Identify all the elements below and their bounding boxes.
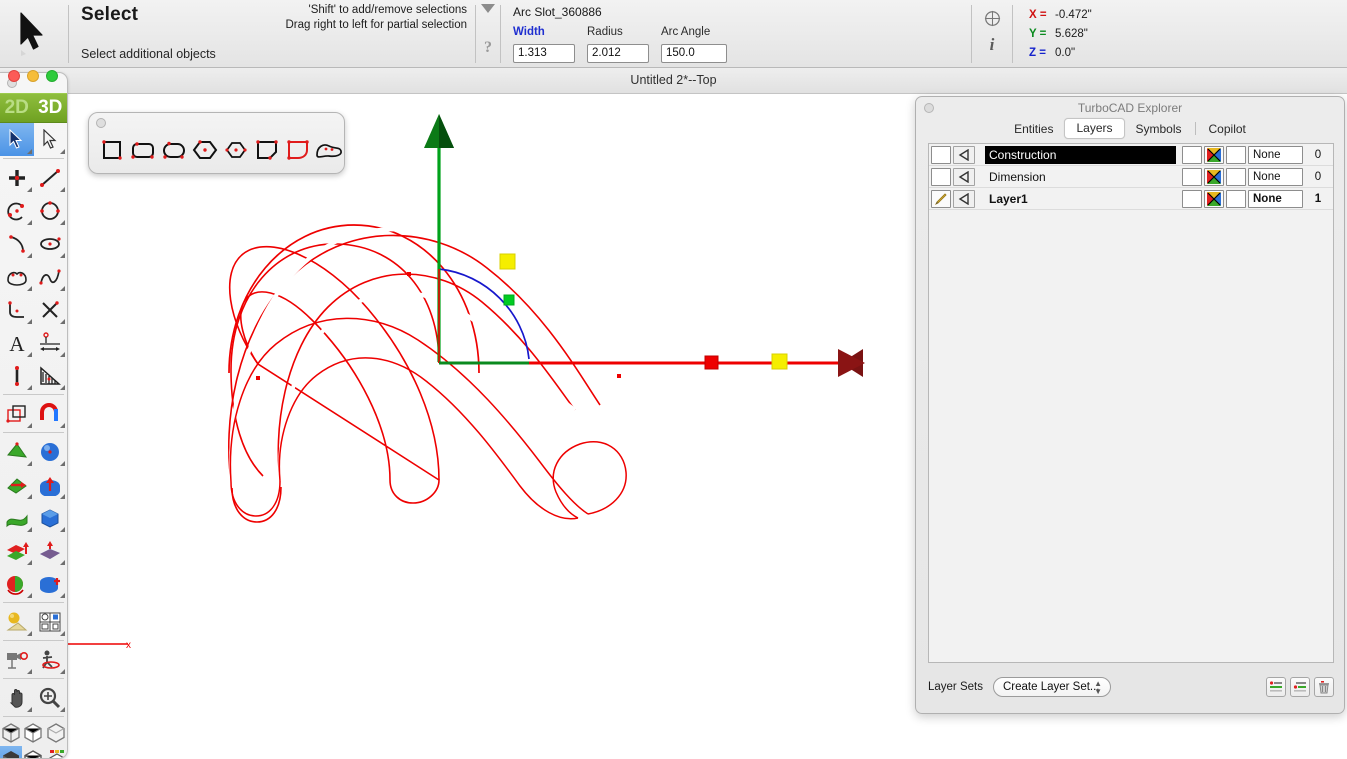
layer-print-checkbox[interactable] bbox=[1226, 190, 1246, 208]
walkthrough-tool[interactable] bbox=[34, 643, 68, 676]
divider bbox=[3, 158, 64, 159]
object-properties-section: Arc Slot_360886 Width Radius Arc Angle bbox=[501, 0, 971, 67]
render-view[interactable] bbox=[44, 746, 68, 759]
coord-x-key: X = bbox=[1029, 6, 1055, 25]
tool-more-icon[interactable] bbox=[60, 253, 65, 258]
bezier-tool[interactable] bbox=[34, 260, 68, 293]
info-italic-icon[interactable]: i bbox=[990, 35, 995, 55]
box-view[interactable] bbox=[22, 746, 44, 759]
shape-palette-grip[interactable] bbox=[96, 118, 106, 128]
wireframe-view[interactable] bbox=[0, 719, 22, 746]
scale-handle-y bbox=[500, 254, 515, 269]
center-marker bbox=[256, 376, 260, 380]
tool-more-icon[interactable] bbox=[60, 593, 65, 598]
add-layer-set-button[interactable] bbox=[1266, 677, 1286, 697]
layer-active-pencil-icon[interactable] bbox=[931, 190, 951, 208]
select-partial-arrow-tool[interactable] bbox=[34, 123, 68, 156]
layer-style[interactable]: None bbox=[1248, 190, 1303, 208]
layer-lock-checkbox[interactable] bbox=[1182, 190, 1202, 208]
layer-style[interactable]: None bbox=[1248, 146, 1303, 164]
width-input[interactable] bbox=[513, 44, 575, 63]
radius-label: Radius bbox=[587, 26, 649, 40]
tool-more-icon[interactable] bbox=[27, 385, 32, 390]
hidden-line-view[interactable] bbox=[22, 719, 44, 746]
tool-prompt: Select additional objects bbox=[81, 47, 216, 61]
dimension-tool[interactable] bbox=[34, 326, 68, 359]
measure-tool[interactable] bbox=[0, 359, 34, 392]
window-controls bbox=[8, 70, 58, 82]
tool-more-icon[interactable] bbox=[27, 560, 32, 565]
coordinate-readout: X = -0.472" Y = 5.628" Z = 0.0" bbox=[1013, 0, 1347, 67]
coord-y-value: 5.628" bbox=[1055, 25, 1088, 44]
extrude-tool[interactable] bbox=[0, 468, 34, 501]
hatch-tool[interactable] bbox=[34, 359, 68, 392]
tool-more-icon[interactable] bbox=[27, 319, 32, 324]
layer-print-checkbox[interactable] bbox=[1226, 146, 1246, 164]
tool-more-icon[interactable] bbox=[27, 669, 32, 674]
width-label: Width bbox=[513, 26, 575, 40]
minimize-button[interactable] bbox=[27, 70, 39, 82]
layer-name[interactable]: Layer1 bbox=[985, 190, 1180, 208]
arc-angle-label: Arc Angle bbox=[661, 26, 727, 40]
arc-slot-tool[interactable] bbox=[313, 133, 344, 167]
layer-active-checkbox[interactable] bbox=[931, 146, 951, 164]
ellipse-tool[interactable] bbox=[34, 227, 68, 260]
arc-angle-field-group: Arc Angle bbox=[661, 26, 727, 63]
select-arrow-tool[interactable] bbox=[0, 123, 34, 156]
tab-layers[interactable]: Layers bbox=[1064, 118, 1124, 139]
coordinate-mode-group: i bbox=[972, 0, 1012, 67]
move-handle-y bbox=[504, 295, 514, 305]
text-tool[interactable]: A bbox=[0, 326, 34, 359]
triangle-down-icon[interactable] bbox=[481, 4, 495, 13]
divider bbox=[3, 394, 64, 395]
mode-2d-button[interactable]: 2D bbox=[0, 94, 34, 122]
object-name-label: Arc Slot_360886 bbox=[513, 5, 971, 19]
tool-more-icon[interactable] bbox=[60, 494, 65, 499]
rounded-rectangle-tool[interactable] bbox=[127, 133, 158, 167]
tab-copilot[interactable]: Copilot bbox=[1198, 120, 1257, 139]
tool-more-icon[interactable] bbox=[27, 631, 32, 636]
revolve-tool[interactable] bbox=[34, 468, 68, 501]
tool-more-icon[interactable] bbox=[27, 149, 32, 154]
edit-layer-set-button[interactable] bbox=[1290, 677, 1310, 697]
divider bbox=[3, 640, 64, 641]
slice-tool[interactable] bbox=[34, 567, 68, 600]
document-title: Untitled 2*--Top bbox=[0, 73, 1347, 87]
stadium-tool[interactable] bbox=[158, 133, 189, 167]
coord-y-key: Y = bbox=[1029, 25, 1055, 44]
arrow-cursor-icon bbox=[0, 0, 68, 67]
modify-tool[interactable] bbox=[0, 397, 34, 430]
tool-more-icon[interactable] bbox=[60, 527, 65, 532]
box-tool[interactable] bbox=[34, 501, 68, 534]
layer-entity-count: 0 bbox=[1303, 146, 1333, 164]
layer-name[interactable]: Construction bbox=[985, 146, 1176, 164]
tool-hint-line2: Drag right to left for partial selection bbox=[285, 18, 467, 33]
tool-more-icon[interactable] bbox=[27, 220, 32, 225]
point-tool[interactable] bbox=[0, 161, 34, 194]
hexagon-tool[interactable] bbox=[189, 133, 220, 167]
tool-hint-line1: 'Shift' to add/remove selections bbox=[285, 3, 467, 18]
tool-more-icon[interactable] bbox=[27, 352, 32, 357]
divider bbox=[3, 432, 64, 433]
tool-more-icon[interactable] bbox=[60, 560, 65, 565]
coordinate-row-y: Y = 5.628" bbox=[1029, 25, 1347, 44]
turbocad-explorer-panel: TurboCAD Explorer Entities Layers Symbol… bbox=[915, 96, 1345, 714]
table-row[interactable]: Layer1 None 1 bbox=[929, 188, 1333, 210]
tool-more-icon[interactable] bbox=[27, 187, 32, 192]
explorer-title: TurboCAD Explorer bbox=[916, 97, 1344, 117]
shaded-view[interactable] bbox=[45, 719, 67, 746]
tool-more-icon[interactable] bbox=[60, 423, 65, 428]
layer-active-checkbox[interactable] bbox=[931, 168, 951, 186]
divider bbox=[3, 602, 64, 603]
tool-more-icon[interactable] bbox=[27, 461, 32, 466]
tool-more-icon[interactable] bbox=[60, 286, 65, 291]
chamfered-rectangle-tool[interactable] bbox=[251, 133, 282, 167]
tool-more-icon[interactable] bbox=[60, 631, 65, 636]
layer-lock-checkbox[interactable] bbox=[1182, 168, 1202, 186]
line-tool[interactable] bbox=[34, 161, 68, 194]
arc-angle-input[interactable] bbox=[661, 44, 727, 63]
polygon-tool[interactable] bbox=[220, 133, 251, 167]
layers-list[interactable]: Construction None 0 Dimension None 0 bbox=[928, 143, 1334, 663]
coord-z-key: Z = bbox=[1029, 44, 1055, 63]
explorer-grip[interactable] bbox=[924, 103, 934, 113]
arc-slot-shape bbox=[231, 229, 610, 488]
arc-tool[interactable] bbox=[0, 194, 34, 227]
rotate-handle-x bbox=[705, 356, 718, 369]
explorer-footer: Layer Sets Create Layer Set... ▲▼ bbox=[928, 675, 1334, 699]
tool-info-section: Select 'Shift' to add/remove selections … bbox=[69, 0, 475, 67]
layer-visibility-icon[interactable] bbox=[953, 190, 975, 208]
tool-more-icon[interactable] bbox=[60, 187, 65, 192]
layer-color-swatch[interactable] bbox=[1204, 168, 1224, 186]
coordinate-row-z: Z = 0.0" bbox=[1029, 44, 1347, 63]
width-field-group: Width bbox=[513, 26, 575, 63]
tool-more-icon[interactable] bbox=[27, 253, 32, 258]
tab-divider bbox=[1195, 122, 1196, 135]
tool-more-icon[interactable] bbox=[60, 669, 65, 674]
surface-tool[interactable] bbox=[0, 501, 34, 534]
pan-tool[interactable] bbox=[0, 681, 34, 714]
tool-more-icon[interactable] bbox=[60, 352, 65, 357]
shape-tool-palette bbox=[88, 112, 345, 174]
document-title-bar: Untitled 2*--Top bbox=[0, 68, 1347, 94]
layer-color-swatch[interactable] bbox=[1204, 190, 1224, 208]
tool-more-icon[interactable] bbox=[60, 385, 65, 390]
mesh-tool[interactable] bbox=[0, 435, 34, 468]
delete-layer-set-button[interactable] bbox=[1314, 677, 1334, 697]
rectangle-tool[interactable] bbox=[96, 133, 127, 167]
curve-tool[interactable] bbox=[0, 227, 34, 260]
render-material-tool[interactable] bbox=[0, 605, 34, 638]
layer-sets-label: Layer Sets bbox=[928, 681, 983, 693]
zoom-tool[interactable] bbox=[34, 681, 68, 714]
layer-name[interactable]: Dimension bbox=[985, 168, 1180, 186]
tool-more-icon[interactable] bbox=[27, 286, 32, 291]
layer-color-swatch[interactable] bbox=[1204, 146, 1224, 164]
tool-more-icon[interactable] bbox=[27, 527, 32, 532]
fillet-corner-tool[interactable] bbox=[0, 293, 34, 326]
tool-more-icon[interactable] bbox=[60, 220, 65, 225]
layer-entity-count: 1 bbox=[1303, 190, 1333, 208]
tool-more-icon[interactable] bbox=[27, 423, 32, 428]
magnet-snap-tool[interactable] bbox=[34, 397, 68, 430]
scale-handle-x bbox=[772, 354, 787, 369]
explorer-tabs: Entities Layers Symbols Copilot bbox=[916, 117, 1344, 139]
circle-tool[interactable] bbox=[34, 194, 68, 227]
reference-line: x bbox=[68, 640, 131, 651]
table-row[interactable]: Construction None 0 bbox=[929, 144, 1333, 166]
reference-marker-label: x bbox=[126, 640, 131, 651]
sphere-tool[interactable] bbox=[34, 435, 68, 468]
tool-hint: 'Shift' to add/remove selections Drag ri… bbox=[285, 3, 467, 33]
crosshair-target-icon[interactable] bbox=[984, 10, 1001, 27]
spline-shape-tool[interactable] bbox=[0, 260, 34, 293]
center-marker bbox=[407, 272, 411, 276]
coord-x-value: -0.472" bbox=[1055, 6, 1092, 25]
property-toolbar: Select 'Shift' to add/remove selections … bbox=[0, 0, 1347, 68]
camera-tool[interactable] bbox=[0, 643, 34, 676]
tool-more-icon[interactable] bbox=[60, 461, 65, 466]
coord-z-value: 0.0" bbox=[1055, 44, 1075, 63]
divider bbox=[3, 678, 64, 679]
radius-input[interactable] bbox=[587, 44, 649, 63]
tool-more-icon[interactable] bbox=[60, 319, 65, 324]
trim-cross-tool[interactable] bbox=[34, 293, 68, 326]
question-mark-icon[interactable]: ? bbox=[484, 39, 492, 57]
tool-more-icon[interactable] bbox=[60, 707, 65, 712]
radius-field-group: Radius bbox=[587, 26, 649, 63]
layer-print-checkbox[interactable] bbox=[1226, 168, 1246, 186]
tool-more-icon[interactable] bbox=[27, 707, 32, 712]
tab-symbols[interactable]: Symbols bbox=[1125, 120, 1193, 139]
tab-entities[interactable]: Entities bbox=[1003, 120, 1064, 139]
layer-sets-dropdown[interactable]: Create Layer Set... ▲▼ bbox=[993, 677, 1111, 697]
close-button[interactable] bbox=[8, 70, 20, 82]
tool-palette: 2D 3D bbox=[0, 72, 68, 759]
chevron-updown-icon: ▲▼ bbox=[1094, 680, 1102, 696]
layer-entity-count: 0 bbox=[1303, 168, 1333, 186]
layout-tool[interactable] bbox=[34, 605, 68, 638]
layer-visibility-icon[interactable] bbox=[953, 146, 975, 164]
tool-more-icon[interactable] bbox=[27, 593, 32, 598]
divider bbox=[3, 716, 64, 717]
loft-tool[interactable] bbox=[0, 534, 34, 567]
coordinate-row-x: X = -0.472" bbox=[1029, 6, 1347, 25]
solid-view[interactable] bbox=[0, 746, 22, 759]
tool-more-icon[interactable] bbox=[60, 149, 65, 154]
boolean-tool[interactable] bbox=[0, 567, 34, 600]
center-marker bbox=[617, 374, 621, 378]
toolbar-expand-group: ? bbox=[476, 0, 500, 67]
layer-sets-value: Create Layer Set... bbox=[1003, 681, 1100, 693]
table-row[interactable]: Dimension None 0 bbox=[929, 166, 1333, 188]
mode-3d-button[interactable]: 3D bbox=[34, 94, 68, 122]
layer-lock-checkbox[interactable] bbox=[1182, 146, 1202, 164]
layer-visibility-icon[interactable] bbox=[953, 168, 975, 186]
layer-style[interactable]: None bbox=[1248, 168, 1303, 186]
dimension-mode-toggle[interactable]: 2D 3D bbox=[0, 93, 67, 123]
sweep-tool[interactable] bbox=[34, 534, 68, 567]
tool-more-icon[interactable] bbox=[27, 494, 32, 499]
svg-text:A: A bbox=[9, 332, 25, 354]
filleted-rectangle-tool[interactable] bbox=[282, 133, 313, 167]
zoom-button[interactable] bbox=[46, 70, 58, 82]
